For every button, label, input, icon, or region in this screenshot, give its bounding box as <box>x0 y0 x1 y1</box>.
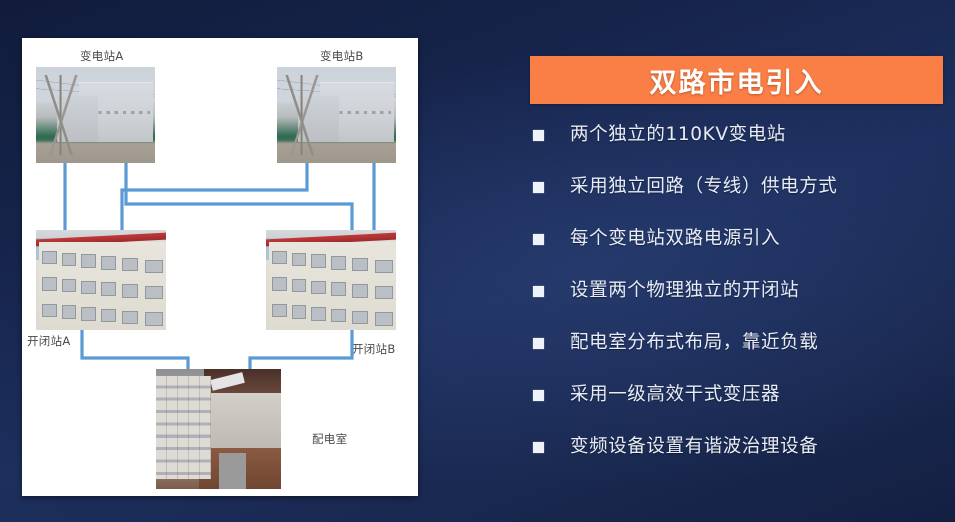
square-bullet-icon <box>533 442 544 453</box>
list-item-label: 每个变电站双路电源引入 <box>570 226 780 252</box>
list-item-label: 设置两个物理独立的开闭站 <box>570 278 799 304</box>
connector-lines <box>22 38 418 496</box>
list-item: 采用一级高效干式变压器 <box>533 382 953 434</box>
list-item-label: 两个独立的110KV变电站 <box>570 122 786 148</box>
slide-canvas: 变电站A 变电站B 开闭站A 开闭站B 配电室 <box>0 0 955 522</box>
list-item: 采用独立回路（专线）供电方式 <box>533 174 953 226</box>
list-item-label: 配电室分布式布局，靠近负载 <box>570 330 818 356</box>
square-bullet-icon <box>533 234 544 245</box>
square-bullet-icon <box>533 182 544 193</box>
feature-bullet-list: 两个独立的110KV变电站 采用独立回路（专线）供电方式 每个变电站双路电源引入… <box>533 122 953 486</box>
line-switching-a-to-distribution-room <box>82 330 188 369</box>
list-item-label: 采用一级高效干式变压器 <box>570 382 780 408</box>
square-bullet-icon <box>533 338 544 349</box>
list-item: 配电室分布式布局，靠近负载 <box>533 330 953 382</box>
square-bullet-icon <box>533 130 544 141</box>
list-item: 设置两个物理独立的开闭站 <box>533 278 953 330</box>
list-item-label: 变频设备设置有谐波治理设备 <box>570 434 818 460</box>
list-item-label: 采用独立回路（专线）供电方式 <box>570 174 837 200</box>
square-bullet-icon <box>533 286 544 297</box>
list-item: 两个独立的110KV变电站 <box>533 122 953 174</box>
list-item: 每个变电站双路电源引入 <box>533 226 953 278</box>
power-topology-diagram: 变电站A 变电站B 开闭站A 开闭站B 配电室 <box>22 38 418 496</box>
section-title-banner: 双路市电引入 <box>530 56 943 104</box>
line-substation-a-to-switching-b <box>126 163 352 230</box>
line-substation-b-to-switching-a <box>122 163 307 230</box>
square-bullet-icon <box>533 390 544 401</box>
page-title: 双路市电引入 <box>650 61 824 100</box>
list-item: 变频设备设置有谐波治理设备 <box>533 434 953 486</box>
line-switching-b-to-distribution-room <box>250 330 352 369</box>
